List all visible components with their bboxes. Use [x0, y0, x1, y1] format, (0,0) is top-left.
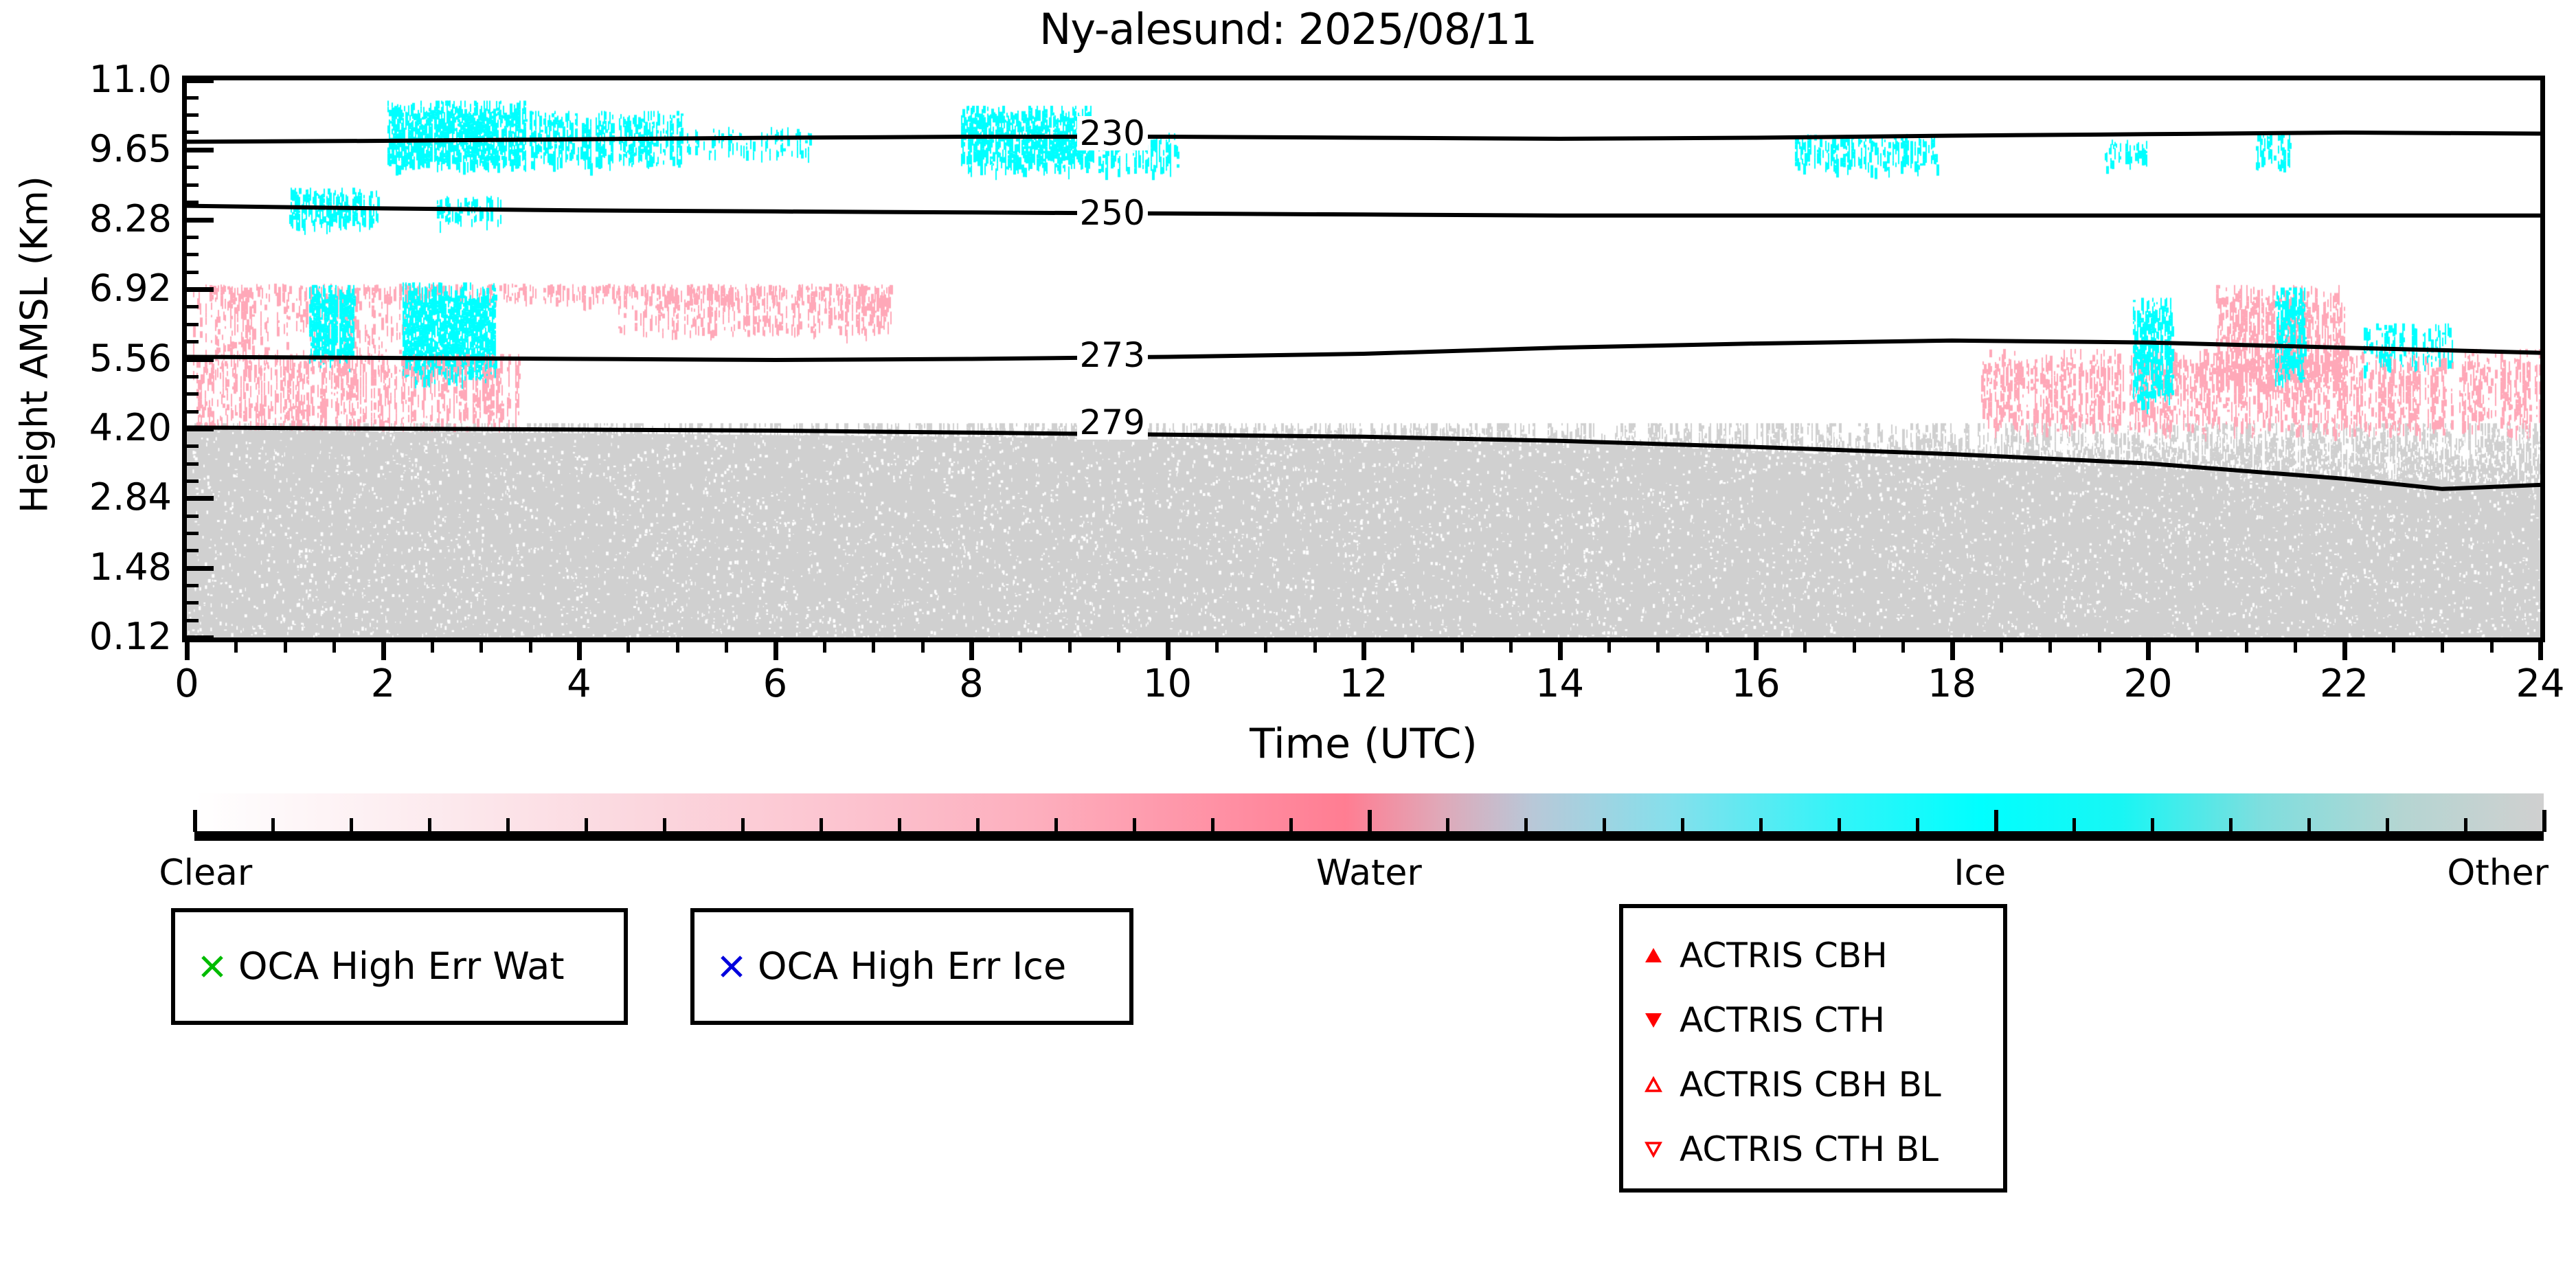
x-minor-tick [2441, 642, 2444, 653]
y-tick-label: 6.92 [0, 270, 172, 307]
x-tick [1362, 642, 1366, 660]
colorbar-label-other: Other [2447, 853, 2549, 893]
x-marker-blue-icon [714, 951, 749, 982]
x-tick-label: 24 [2472, 664, 2576, 705]
x-minor-tick [1215, 642, 1219, 653]
y-tick-label: 2.84 [0, 479, 172, 516]
colorbar-tick [2542, 810, 2546, 832]
y-minor-tick [182, 96, 199, 100]
contour-line-250 [187, 206, 2540, 216]
y-minor-tick [182, 410, 199, 414]
y-minor-tick [182, 253, 199, 256]
colorbar-tick [1838, 818, 1841, 832]
y-tick-label: 0.12 [0, 618, 172, 655]
x-minor-tick [823, 642, 826, 653]
contour-line-230 [187, 133, 2540, 142]
x-tick [185, 642, 190, 660]
colorbar-tick [1994, 810, 1998, 832]
x-minor-tick [1607, 642, 1611, 653]
colorbar-tick [1916, 818, 1919, 832]
colorbar-tick [2072, 818, 2076, 832]
x-minor-tick [626, 642, 630, 653]
x-minor-tick [332, 642, 336, 653]
contour-label-230: 230 [1077, 116, 1148, 150]
x-tick [1558, 642, 1563, 660]
x-minor-tick [2294, 642, 2297, 653]
y-tick [182, 427, 214, 431]
legend-item-actris-cbh[interactable]: ACTRIS CBH [1623, 923, 2003, 988]
y-minor-tick [182, 549, 199, 552]
y-minor-tick [182, 444, 199, 448]
y-minor-tick [182, 271, 199, 274]
x-minor-tick [479, 642, 483, 653]
x-tick-label: 22 [2276, 664, 2413, 705]
colorbar-tick [898, 818, 901, 832]
y-minor-tick [182, 236, 199, 239]
x-tick [2342, 642, 2347, 660]
colorbar-tick [193, 810, 197, 832]
y-minor-tick [182, 619, 199, 622]
legend-label: OCA High Err Ice [758, 947, 1066, 986]
y-tick [182, 287, 214, 292]
x-tick-label: 14 [1491, 664, 1629, 705]
y-minor-tick [182, 515, 199, 518]
colorbar-axis [194, 831, 2544, 841]
x-axis-label: Time (UTC) [182, 720, 2545, 768]
legend-item-actris-cbh-bl[interactable]: ACTRIS CBH BL [1623, 1052, 2003, 1117]
colorbar [194, 793, 2544, 845]
colorbar-tick [1289, 818, 1293, 832]
legend-label: ACTRIS CTH [1680, 1002, 1885, 1038]
x-tick-label: 20 [2079, 664, 2217, 705]
y-minor-tick [182, 462, 199, 466]
x-minor-tick [725, 642, 728, 653]
colorbar-tick [976, 818, 980, 832]
x-marker-green-icon [194, 951, 230, 982]
legend-label: ACTRIS CBH [1680, 938, 1888, 973]
y-minor-tick [182, 305, 199, 308]
x-minor-tick [284, 642, 287, 653]
triangle-up-open-icon [1636, 1071, 1671, 1098]
x-minor-tick [2048, 642, 2052, 653]
x-tick [1166, 642, 1171, 660]
colorbar-tick [1681, 818, 1684, 832]
y-tick [182, 78, 214, 83]
triangle-up-filled-icon [1636, 942, 1671, 969]
legend-label: ACTRIS CBH BL [1680, 1067, 1941, 1103]
x-minor-tick [1411, 642, 1414, 653]
colorbar-tick [1133, 818, 1136, 832]
legend-item-actris-cth[interactable]: ACTRIS CTH [1623, 988, 2003, 1052]
y-tick-label: 5.56 [0, 340, 172, 377]
x-minor-tick [1706, 642, 1709, 653]
x-tick [969, 642, 974, 660]
colorbar-tick [1524, 818, 1528, 832]
colorbar-tick [428, 818, 431, 832]
x-minor-tick [2245, 642, 2248, 653]
x-minor-tick [529, 642, 532, 653]
y-tick-label: 4.20 [0, 409, 172, 447]
x-minor-tick [921, 642, 925, 653]
x-minor-tick [1901, 642, 1905, 653]
x-minor-tick [1509, 642, 1513, 653]
legend-item-actris-cth-bl[interactable]: ACTRIS CTH BL [1623, 1117, 2003, 1182]
plot-area [182, 76, 2545, 642]
y-minor-tick [182, 375, 199, 379]
triangle-down-filled-icon [1636, 1006, 1671, 1034]
colorbar-tick [585, 818, 588, 832]
y-tick [182, 357, 214, 362]
colorbar-label-clear: Clear [159, 853, 252, 893]
colorbar-tick [1603, 818, 1606, 832]
y-minor-tick [182, 479, 199, 483]
y-minor-tick [182, 584, 199, 587]
legend-label: ACTRIS CTH BL [1680, 1131, 1939, 1167]
x-minor-tick [2098, 642, 2101, 653]
colorbar-tick [2151, 818, 2154, 832]
y-tick-label: 9.65 [0, 131, 172, 168]
x-tick-label: 10 [1099, 664, 1236, 705]
y-tick [182, 148, 214, 152]
chart-title: Ny-alesund: 2025/08/11 [0, 4, 2576, 54]
x-minor-tick [2490, 642, 2494, 653]
y-minor-tick [182, 532, 199, 535]
colorbar-tick [2307, 818, 2311, 832]
colorbar-tick [506, 818, 510, 832]
x-tick-label: 2 [315, 664, 452, 705]
x-minor-tick [1656, 642, 1660, 653]
x-tick-label: 16 [1687, 664, 1824, 705]
x-tick [381, 642, 386, 660]
contour-label-279: 279 [1077, 405, 1148, 440]
colorbar-tick [350, 818, 353, 832]
x-minor-tick [2392, 642, 2395, 653]
legend-label: OCA High Err Wat [238, 947, 565, 986]
contour-label-250: 250 [1077, 196, 1148, 230]
x-tick-label: 12 [1295, 664, 1432, 705]
x-tick-label: 8 [903, 664, 1040, 705]
x-minor-tick [234, 642, 238, 653]
x-minor-tick [2195, 642, 2199, 653]
y-tick [182, 566, 214, 571]
colorbar-label-ice: Ice [1954, 853, 2006, 893]
x-tick-label: 18 [1884, 664, 2021, 705]
x-tick [1950, 642, 1955, 660]
y-tick-label: 11.0 [0, 61, 172, 98]
y-minor-tick [182, 113, 199, 117]
legend-oca-high-err-ice[interactable]: OCA High Err Ice [690, 908, 1133, 1025]
legend-oca-high-err-wat[interactable]: OCA High Err Wat [171, 908, 628, 1025]
colorbar-label-water: Water [1316, 853, 1422, 893]
y-minor-tick [182, 131, 199, 134]
y-tick [182, 496, 214, 501]
x-minor-tick [1313, 642, 1317, 653]
x-tick-label: 6 [707, 664, 844, 705]
x-minor-tick [676, 642, 679, 653]
x-minor-tick [872, 642, 875, 653]
x-tick [577, 642, 582, 660]
x-minor-tick [1803, 642, 1807, 653]
colorbar-tick [741, 818, 745, 832]
y-minor-tick [182, 166, 199, 169]
x-tick [2146, 642, 2151, 660]
x-minor-tick [1264, 642, 1267, 653]
triangle-down-open-icon [1636, 1136, 1671, 1163]
x-minor-tick [1019, 642, 1022, 653]
x-tick-label: 4 [510, 664, 648, 705]
y-minor-tick [182, 601, 199, 605]
colorbar-tick [1446, 818, 1449, 832]
colorbar-tick [2229, 818, 2233, 832]
legend-actris[interactable]: ACTRIS CBH ACTRIS CTH ACTRIS CBH BL ACTR… [1619, 904, 2007, 1193]
colorbar-tick [820, 818, 823, 832]
colorbar-tick [1054, 818, 1058, 832]
y-minor-tick [182, 201, 199, 204]
y-tick [182, 635, 214, 640]
y-tick-label: 8.28 [0, 201, 172, 238]
y-minor-tick [182, 183, 199, 187]
x-tick [1754, 642, 1759, 660]
y-tick-label: 1.48 [0, 549, 172, 586]
colorbar-tick [1759, 818, 1763, 832]
y-minor-tick [182, 323, 199, 326]
colorbar-tick [271, 818, 275, 832]
x-minor-tick [431, 642, 434, 653]
y-minor-tick [182, 340, 199, 343]
x-tick [2538, 642, 2543, 660]
contour-label-273: 273 [1077, 338, 1148, 372]
colorbar-tick [1211, 818, 1214, 832]
x-minor-tick [2000, 642, 2003, 653]
x-tick [773, 642, 778, 660]
x-minor-tick [1068, 642, 1072, 653]
temperature-contours [187, 80, 2540, 637]
contour-line-279 [187, 427, 2540, 488]
contour-line-273 [187, 341, 2540, 360]
x-minor-tick [1853, 642, 1856, 653]
x-minor-tick [1117, 642, 1120, 653]
y-tick [182, 218, 214, 223]
x-minor-tick [1460, 642, 1464, 653]
colorbar-tick [663, 818, 666, 832]
colorbar-tick [2386, 818, 2389, 832]
y-minor-tick [182, 392, 199, 396]
x-tick-label: 0 [118, 664, 256, 705]
colorbar-tick [1368, 810, 1372, 832]
colorbar-tick [2464, 818, 2467, 832]
